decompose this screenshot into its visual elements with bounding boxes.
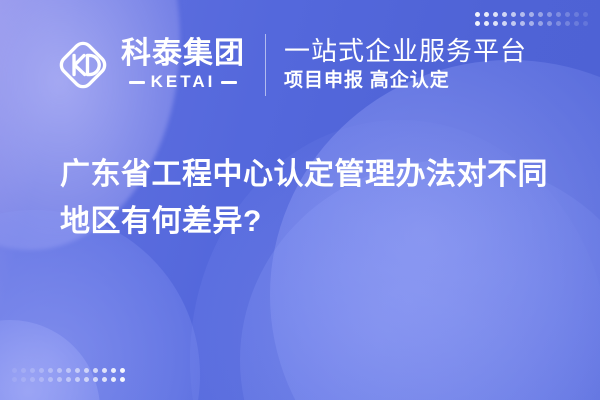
decor-dot — [75, 368, 80, 373]
decor-dot — [120, 377, 125, 382]
decor-dot — [39, 368, 44, 373]
dot-row — [12, 368, 125, 373]
tagline-secondary: 项目申报 高企认定 — [284, 69, 527, 94]
brand-name-cn: 科泰集团 — [121, 38, 245, 70]
decor-dot — [30, 368, 35, 373]
banner-title: 广东省工程中心认定管理办法对不同地区有何差异? — [60, 152, 550, 245]
decor-dot — [12, 368, 17, 373]
dot-row — [12, 377, 125, 382]
decor-dot — [57, 377, 62, 382]
brand-name-en-row: KETAI — [121, 72, 245, 92]
promo-banner: 科泰集团 KETAI 一站式企业服务平台 项目申报 高企认定 广东省工程中心认定… — [0, 0, 600, 400]
decor-dot — [102, 377, 107, 382]
ketai-kd-diamond-emblem-icon — [55, 37, 111, 93]
banner-header: 科泰集团 KETAI 一站式企业服务平台 项目申报 高企认定 — [0, 0, 600, 130]
decor-dot — [57, 368, 62, 373]
decor-dot — [21, 368, 26, 373]
decor-dot — [120, 368, 125, 373]
decor-dot — [111, 377, 116, 382]
dot-grid-bottom-left — [12, 368, 125, 382]
logo-dash-left-icon — [129, 81, 145, 84]
decor-dot — [93, 377, 98, 382]
brand-logo-text: 科泰集团 KETAI — [121, 38, 245, 93]
brand-name-en: KETAI — [151, 72, 216, 92]
decor-dot — [102, 368, 107, 373]
decor-dot — [93, 368, 98, 373]
decor-dot — [48, 377, 53, 382]
header-divider — [265, 34, 266, 96]
decor-dot — [48, 368, 53, 373]
decor-dot — [12, 377, 17, 382]
decor-dot — [66, 377, 71, 382]
brand-logo[interactable]: 科泰集团 KETAI — [55, 37, 245, 93]
tagline-primary: 一站式企业服务平台 — [284, 36, 527, 67]
decor-dot — [84, 377, 89, 382]
decor-dot — [84, 368, 89, 373]
decor-dot — [66, 368, 71, 373]
decor-dot — [21, 377, 26, 382]
brand-tagline: 一站式企业服务平台 项目申报 高企认定 — [284, 36, 527, 94]
logo-dash-right-icon — [221, 81, 237, 84]
decor-dot — [75, 377, 80, 382]
decor-dot — [39, 377, 44, 382]
decor-dot — [111, 368, 116, 373]
decor-dot — [30, 377, 35, 382]
